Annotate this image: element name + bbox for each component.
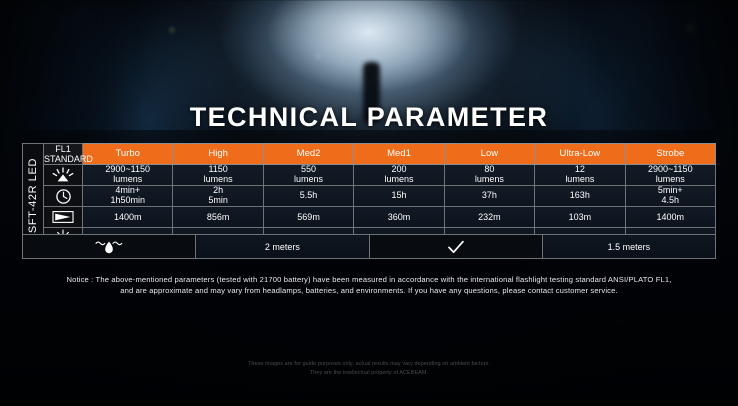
cell-runtime-strobe: 5min+4.5h <box>625 186 715 207</box>
cell-output-ultra-low: 12lumens <box>535 165 625 186</box>
cell-runtime-ultra-low: 163h <box>535 186 625 207</box>
led-model-label: SFT-42R LED <box>27 158 39 233</box>
resistance-row: 2 meters 1.5 meters <box>23 235 716 259</box>
cell-distance-med1: 360m <box>354 207 444 228</box>
beam-distance-icon <box>44 207 83 228</box>
notice-text: Notice : The above-mentioned parameters … <box>0 274 738 296</box>
impact-resistance-value: 1.5 meters <box>542 235 715 259</box>
water-drop-icon <box>23 235 196 259</box>
column-header-med2: Med2 <box>263 144 353 165</box>
column-header-low: Low <box>444 144 534 165</box>
clock-icon <box>44 186 83 207</box>
table-row-runtime: 4min+1h50min 2h5min 5.5h 15h 37h 163h 5m… <box>23 186 716 207</box>
fl1-line-1: FL1 <box>55 144 71 154</box>
screenshot-root: TECHNICAL PARAMETER SFT-42R LED FL1 STAN… <box>0 0 738 406</box>
cell-distance-high: 856m <box>173 207 263 228</box>
cell-output-low: 80lumens <box>444 165 534 186</box>
cell-runtime-med2: 5.5h <box>263 186 353 207</box>
table-header-row: SFT-42R LED FL1 STANDARD Turbo High Med2… <box>23 144 716 165</box>
led-model-cell: SFT-42R LED <box>23 144 44 249</box>
cell-output-strobe: 2900~1150lumens <box>625 165 715 186</box>
light-output-icon <box>44 165 83 186</box>
table-row-output: 2900~1150lumens 1150lumens 550lumens 200… <box>23 165 716 186</box>
cell-distance-low: 232m <box>444 207 534 228</box>
cell-runtime-med1: 15h <box>354 186 444 207</box>
fl1-line-2: STANDARD <box>44 154 93 164</box>
cell-output-high: 1150lumens <box>173 165 263 186</box>
disclaimer-text: These images are for guide purposes only… <box>0 360 738 377</box>
notice-line-2: and are approximate and may vary from he… <box>0 285 738 296</box>
cell-runtime-high: 2h5min <box>173 186 263 207</box>
notice-line-1: Notice : The above-mentioned parameters … <box>0 274 738 285</box>
disclaimer-line-2: They are the intellectual property of AC… <box>0 369 738 378</box>
resistance-table: 2 meters 1.5 meters <box>22 234 716 259</box>
column-header-high: High <box>173 144 263 165</box>
cell-distance-ultra-low: 103m <box>535 207 625 228</box>
impact-check-icon <box>369 235 542 259</box>
cell-distance-turbo: 1400m <box>83 207 173 228</box>
column-header-turbo: Turbo <box>83 144 173 165</box>
page-title: TECHNICAL PARAMETER <box>0 102 738 133</box>
table-row-beam-distance: 1400m 856m 569m 360m 232m 103m 1400m <box>23 207 716 228</box>
cell-output-turbo: 2900~1150lumens <box>83 165 173 186</box>
cell-runtime-turbo: 4min+1h50min <box>83 186 173 207</box>
cell-runtime-low: 37h <box>444 186 534 207</box>
cell-output-med1: 200lumens <box>354 165 444 186</box>
cell-distance-strobe: 1400m <box>625 207 715 228</box>
cell-distance-med2: 569m <box>263 207 353 228</box>
fl1-standard-header: FL1 STANDARD <box>44 144 83 165</box>
column-header-strobe: Strobe <box>625 144 715 165</box>
cell-output-med2: 550lumens <box>263 165 353 186</box>
disclaimer-line-1: These images are for guide purposes only… <box>0 360 738 369</box>
column-header-med1: Med1 <box>354 144 444 165</box>
water-resistance-value: 2 meters <box>196 235 369 259</box>
column-header-ultra-low: Ultra-Low <box>535 144 625 165</box>
